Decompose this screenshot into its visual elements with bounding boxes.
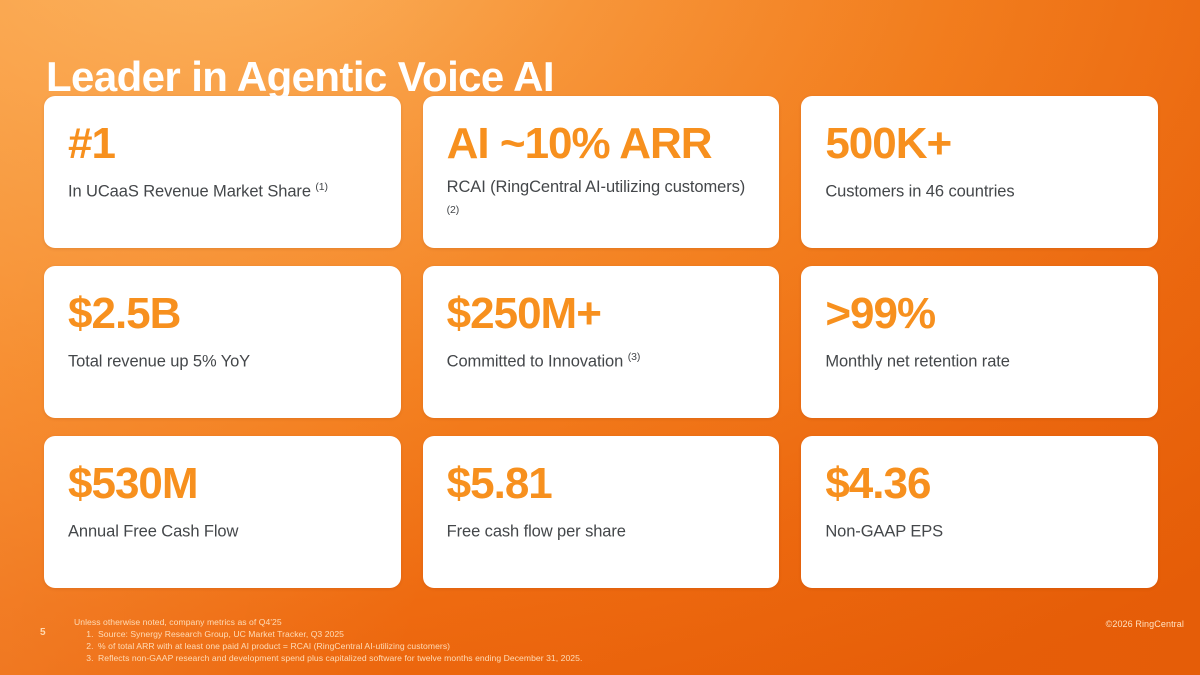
metric-description-text: Committed to Innovation xyxy=(447,353,624,371)
metric-value: 500K+ xyxy=(825,118,1134,170)
footnotes-block: Unless otherwise noted, company metrics … xyxy=(70,616,582,664)
copyright-notice: ©2026 RingCentral xyxy=(1106,619,1184,629)
footnotes-list: Source: Synergy Research Group, UC Marke… xyxy=(70,628,582,664)
footnote-marker: (3) xyxy=(628,351,641,363)
metric-description-text: Monthly net retention rate xyxy=(825,353,1010,371)
metric-description: RCAI (RingCentral AI-utilizing customers… xyxy=(447,176,756,227)
metric-card: $530M Annual Free Cash Flow xyxy=(44,436,401,588)
footnote-marker: (2) xyxy=(447,204,460,216)
metric-card-grid: #1 In UCaaS Revenue Market Share (1) AI … xyxy=(44,96,1158,588)
metric-description-text: Non-GAAP EPS xyxy=(825,523,943,541)
slide-canvas: Leader in Agentic Voice AI #1 In UCaaS R… xyxy=(0,0,1200,675)
footnote-item: Source: Synergy Research Group, UC Marke… xyxy=(96,628,582,640)
metric-card: AI ~10% ARR RCAI (RingCentral AI-utilizi… xyxy=(423,96,780,248)
metric-description-text: Customers in 46 countries xyxy=(825,183,1014,201)
footnote-item: % of total ARR with at least one paid AI… xyxy=(96,640,582,652)
metric-card: #1 In UCaaS Revenue Market Share (1) xyxy=(44,96,401,248)
metric-value: $2.5B xyxy=(68,288,377,340)
metric-card: $5.81 Free cash flow per share xyxy=(423,436,780,588)
metric-description: Free cash flow per share xyxy=(447,516,756,544)
metric-description: Annual Free Cash Flow xyxy=(68,516,377,544)
metric-value: $5.81 xyxy=(447,458,756,510)
metric-description: Committed to Innovation (3) xyxy=(447,346,756,374)
metric-description: Total revenue up 5% YoY xyxy=(68,346,377,374)
slide-footer: 5 Unless otherwise noted, company metric… xyxy=(0,609,1200,675)
metric-description-text: Annual Free Cash Flow xyxy=(68,523,238,541)
metric-value: $250M+ xyxy=(447,288,756,340)
metric-card: $2.5B Total revenue up 5% YoY xyxy=(44,266,401,418)
metric-card: $4.36 Non-GAAP EPS xyxy=(801,436,1158,588)
footnote-marker: (1) xyxy=(315,181,328,193)
metric-value: $4.36 xyxy=(825,458,1134,510)
metric-description-text: Free cash flow per share xyxy=(447,523,626,541)
footnotes-lead: Unless otherwise noted, company metrics … xyxy=(74,616,582,628)
metric-description: Customers in 46 countries xyxy=(825,176,1134,204)
metric-value: $530M xyxy=(68,458,377,510)
metric-value: >99% xyxy=(825,288,1134,340)
footnote-item: Reflects non-GAAP research and developme… xyxy=(96,652,582,664)
metric-value: AI ~10% ARR xyxy=(447,118,756,170)
metric-description: Non-GAAP EPS xyxy=(825,516,1134,544)
metric-card: 500K+ Customers in 46 countries xyxy=(801,96,1158,248)
metric-description-text: In UCaaS Revenue Market Share xyxy=(68,183,311,201)
metric-description: Monthly net retention rate xyxy=(825,346,1134,374)
metric-value: #1 xyxy=(68,118,377,170)
metric-description-text: Total revenue up 5% YoY xyxy=(68,353,250,371)
metric-description-text: RCAI (RingCentral AI-utilizing customers… xyxy=(447,178,746,196)
metric-description: In UCaaS Revenue Market Share (1) xyxy=(68,176,377,204)
metric-card: >99% Monthly net retention rate xyxy=(801,266,1158,418)
page-number: 5 xyxy=(40,627,46,638)
metric-card: $250M+ Committed to Innovation (3) xyxy=(423,266,780,418)
